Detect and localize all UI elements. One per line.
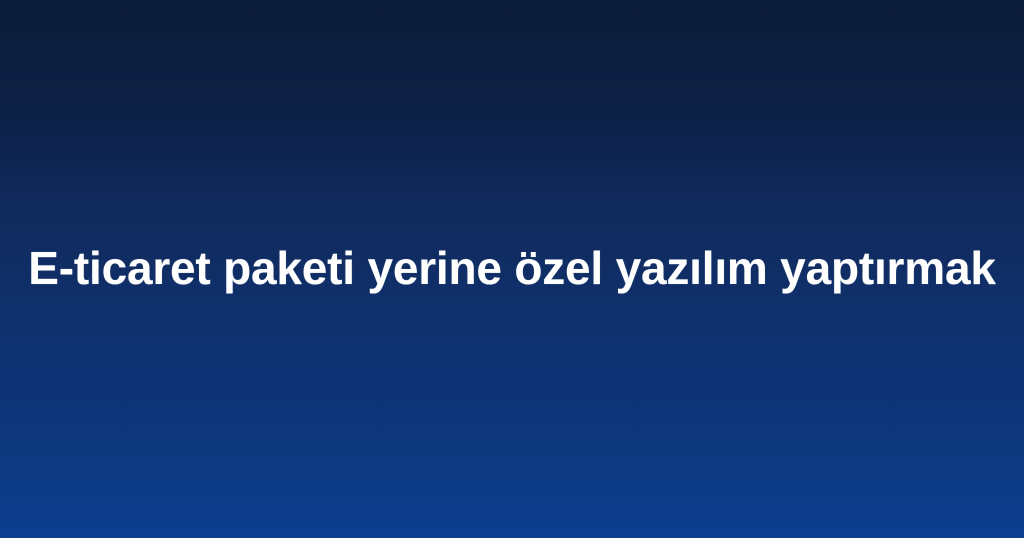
banner-headline: E-ticaret paketi yerine özel yazılım yap…	[28, 243, 995, 295]
headline-container: E-ticaret paketi yerine özel yazılım yap…	[0, 0, 1024, 538]
banner-card: E-ticaret paketi yerine özel yazılım yap…	[0, 0, 1024, 538]
